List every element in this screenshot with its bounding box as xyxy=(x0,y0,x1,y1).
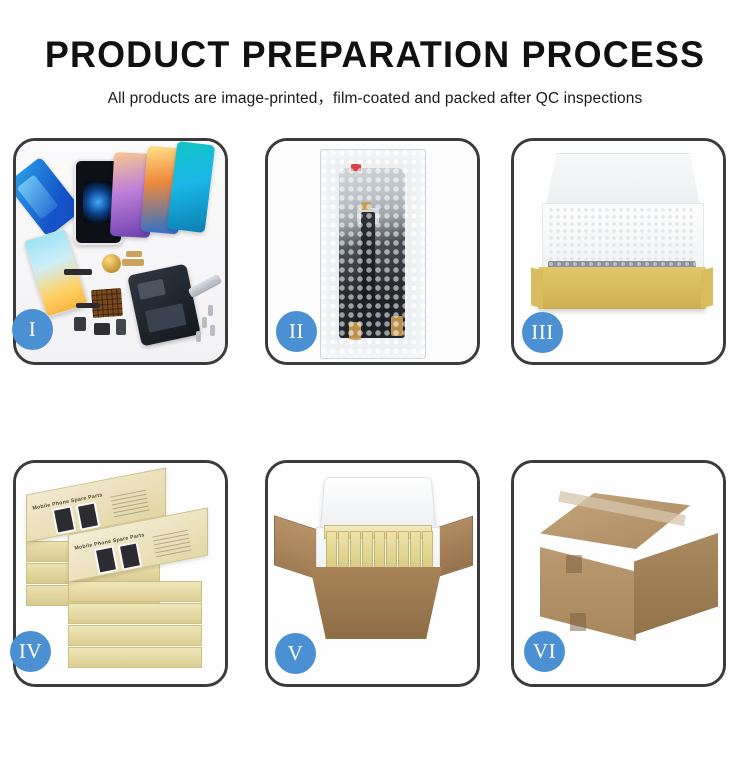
step-badge-4: IV xyxy=(10,631,51,672)
phone-mainboard-icon xyxy=(127,264,201,347)
process-panel-6[interactable]: VI xyxy=(511,460,726,687)
process-panel-1[interactable]: I xyxy=(13,138,228,365)
process-row-bottom: Mobile Phone Spare Parts Mobile Phone Sp… xyxy=(0,460,750,690)
screw-icon xyxy=(208,305,213,316)
camera-module-icon xyxy=(94,323,110,335)
carton-handle-slot-icon xyxy=(566,555,582,573)
yellow-box-icon xyxy=(362,531,373,573)
carton-left-face-icon xyxy=(540,547,636,641)
ribbon-cable-icon xyxy=(76,303,100,308)
red-label-icon xyxy=(351,164,361,171)
process-panel-2[interactable]: II xyxy=(265,138,480,365)
small-part-icon xyxy=(74,317,86,331)
kraft-tray-icon xyxy=(538,267,706,309)
gold-contact-icon xyxy=(122,259,144,266)
process-steps-grid: I xyxy=(0,138,750,782)
phone-screen-blue-icon xyxy=(16,157,82,238)
screw-icon xyxy=(202,317,207,328)
page-title: PRODUCT PREPARATION PROCESS xyxy=(11,36,739,75)
carton-body-icon xyxy=(310,567,442,639)
step-badge-2: II xyxy=(276,311,317,352)
button-part-icon xyxy=(116,319,126,335)
yellow-box-icon xyxy=(326,531,337,573)
process-panel-5[interactable]: V xyxy=(265,460,480,687)
board-connector-icon xyxy=(355,300,395,330)
gold-contact-icon xyxy=(349,322,361,340)
gold-contact-icon xyxy=(391,316,403,336)
yellow-box-icon xyxy=(422,531,433,573)
tweezers-icon xyxy=(188,274,223,299)
process-panel-3[interactable]: III xyxy=(511,138,726,365)
gold-connector-icon xyxy=(126,251,142,257)
screw-icon xyxy=(210,325,215,336)
process-panel-4[interactable]: Mobile Phone Spare Parts Mobile Phone Sp… xyxy=(13,460,228,687)
step-badge-3: III xyxy=(522,312,563,353)
process-row-top: I xyxy=(0,138,750,368)
yellow-box-icon xyxy=(350,531,361,573)
box-slab xyxy=(68,625,202,646)
step-badge-5: V xyxy=(275,633,316,674)
page-subtitle: All products are image-printed，film-coat… xyxy=(0,86,750,108)
carton-handle-slot-icon xyxy=(570,613,586,631)
yellow-box-icon xyxy=(410,531,421,573)
box-slab xyxy=(68,647,202,668)
screw-icon xyxy=(196,331,201,342)
bubble-wrap-bag-icon xyxy=(320,149,426,359)
foam-sheet-icon xyxy=(548,207,696,269)
yellow-box-icon xyxy=(398,531,409,573)
carton-right-face-icon xyxy=(634,533,718,635)
box-slab xyxy=(68,603,202,624)
gold-contact-icon xyxy=(361,202,371,210)
yellow-box-icon xyxy=(386,531,397,573)
step-badge-6: VI xyxy=(524,631,565,672)
box-slab xyxy=(68,581,202,602)
yellow-box-icon xyxy=(374,531,385,573)
speaker-coil-icon xyxy=(102,254,121,273)
product-preparation-page: PRODUCT PREPARATION PROCESS All products… xyxy=(0,0,750,750)
step-badge-1: I xyxy=(12,309,53,350)
yellow-box-icon xyxy=(338,531,349,573)
flex-cable-icon xyxy=(64,269,92,275)
header: PRODUCT PREPARATION PROCESS All products… xyxy=(0,0,750,108)
